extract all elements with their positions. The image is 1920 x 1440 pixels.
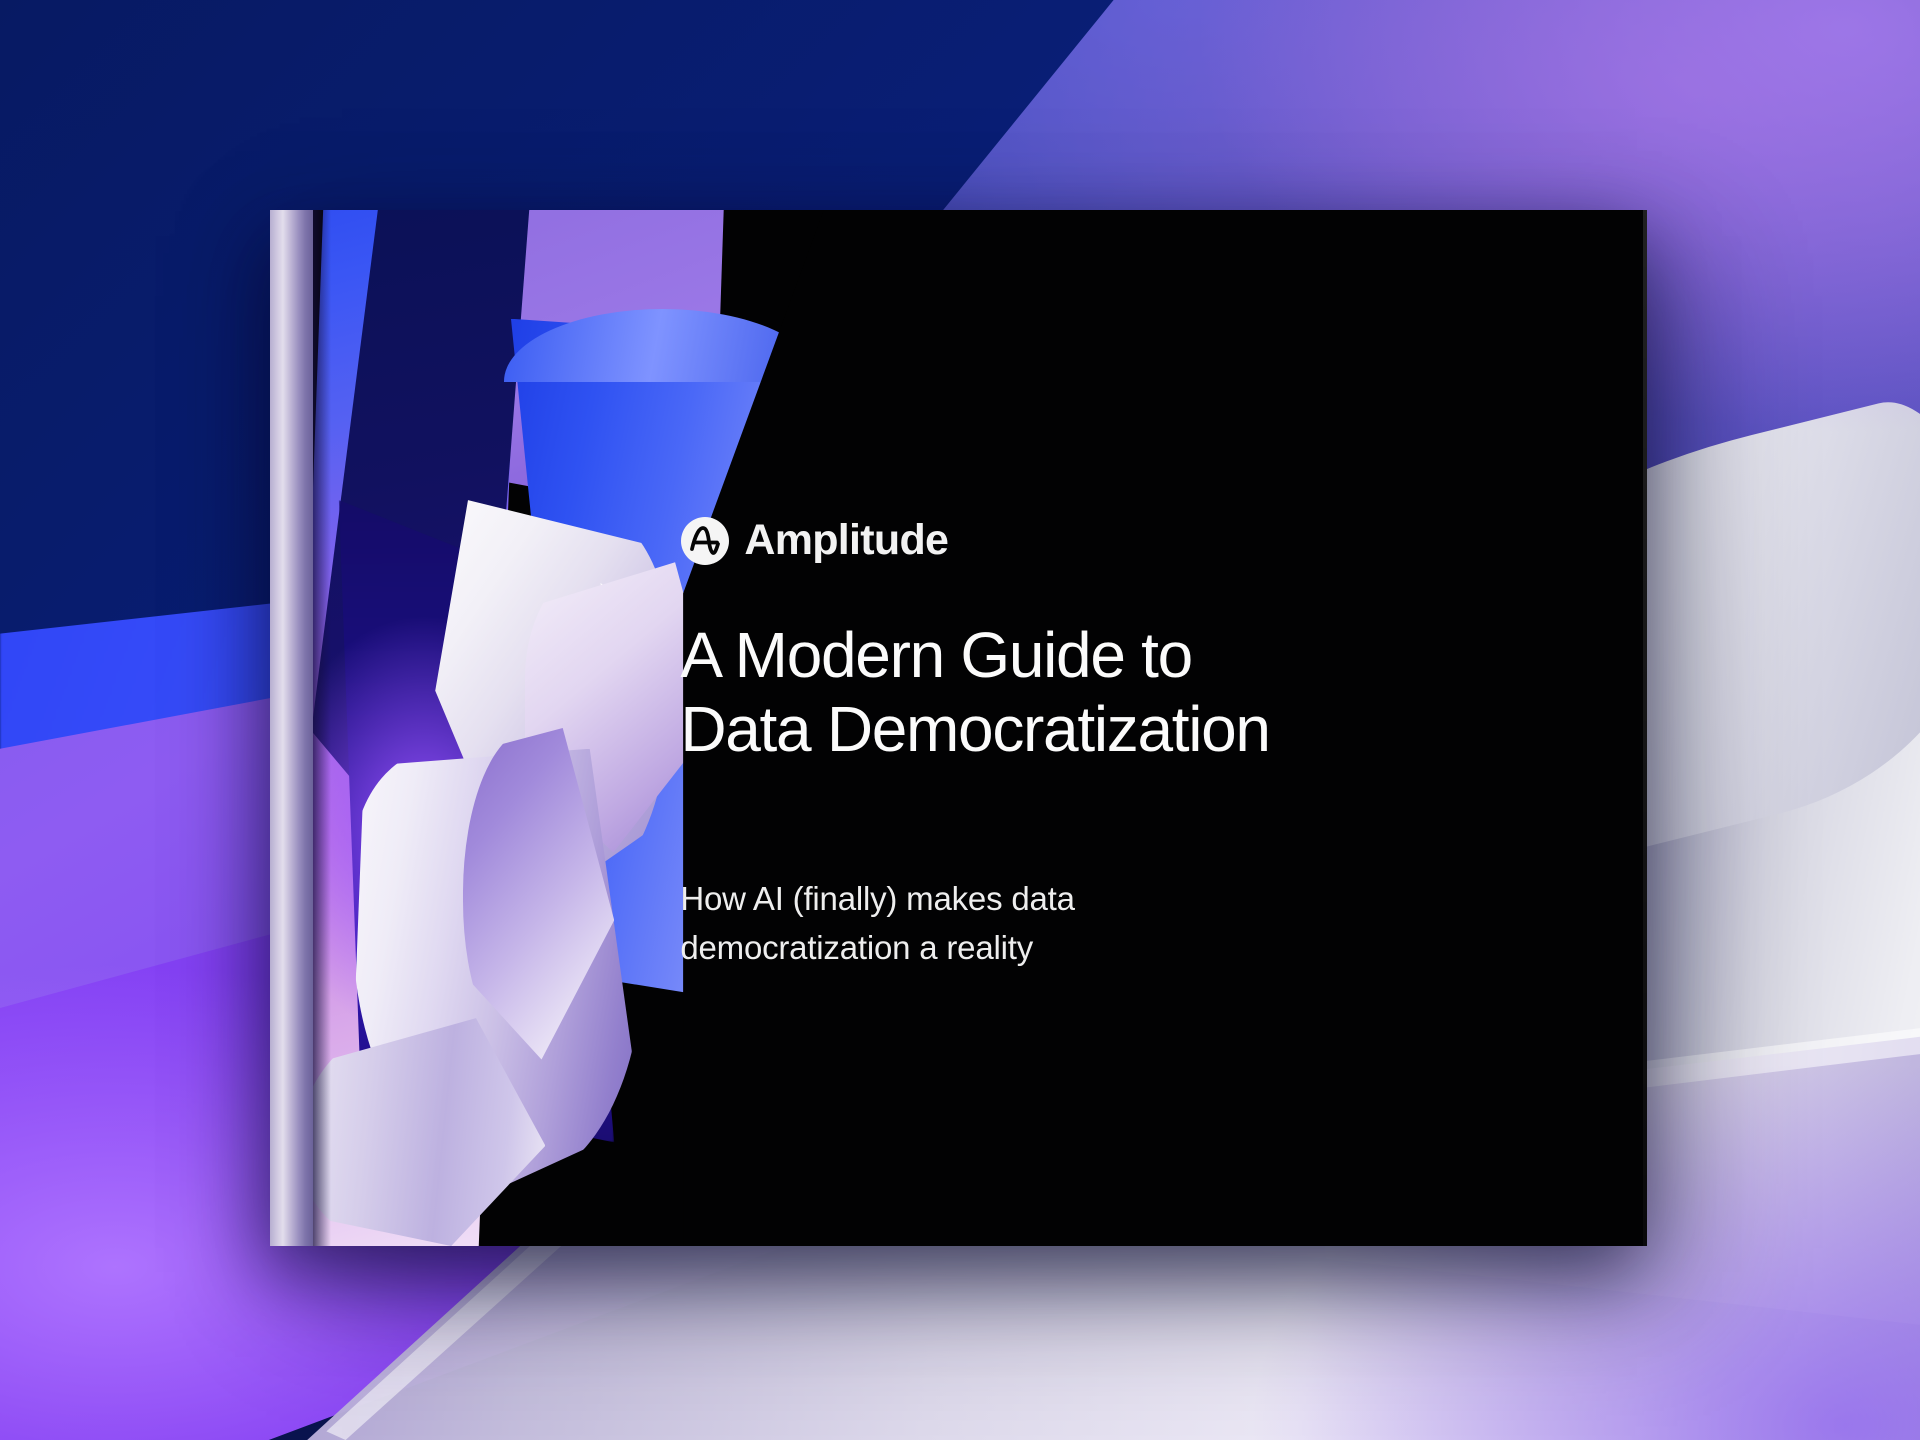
cover-subtitle: How AI (finally) makes data democratizat… xyxy=(680,875,1074,973)
brand-name: Amplitude xyxy=(744,519,948,562)
book-spine-shadow xyxy=(313,210,331,1246)
book-mockup: Amplitude A Modern Guide to Data Democra… xyxy=(270,210,1647,1246)
brand-lockup: Amplitude xyxy=(680,516,948,566)
book-page-edge xyxy=(1643,210,1647,1246)
book-front-cover: Amplitude A Modern Guide to Data Democra… xyxy=(270,210,1647,1246)
cover-text-block: Amplitude A Modern Guide to Data Democra… xyxy=(680,210,1589,1246)
book-spine xyxy=(270,210,313,1246)
amplitude-logo-icon xyxy=(680,516,730,566)
screenshot-canvas: Amplitude A Modern Guide to Data Democra… xyxy=(0,0,1920,1440)
cover-title: A Modern Guide to Data Democratization xyxy=(680,619,1269,767)
